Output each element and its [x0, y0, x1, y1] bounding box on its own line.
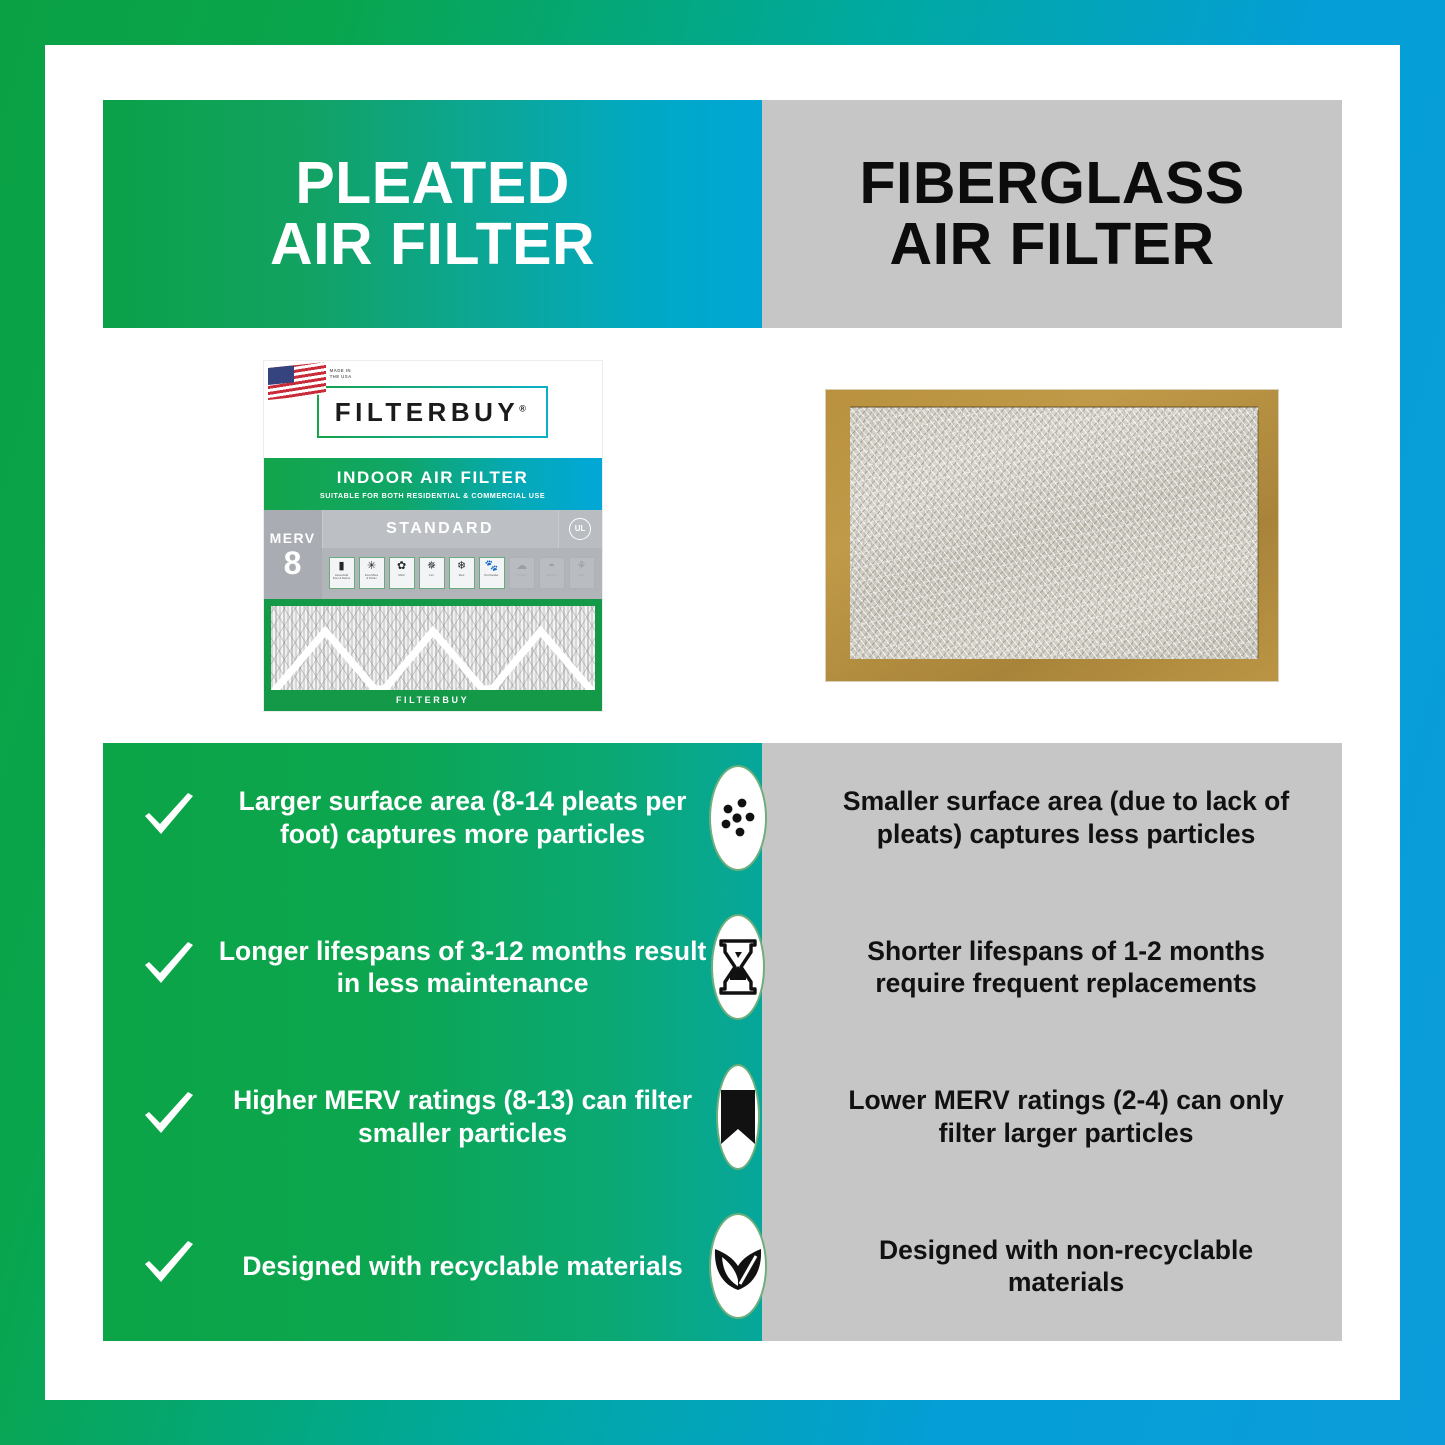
checkmark-icon	[141, 790, 197, 846]
pleated-benefit-text: Longer lifespans of 3-12 months result i…	[215, 935, 710, 1000]
filter-grade-label: STANDARD	[322, 510, 558, 548]
capability-glyph-icon: ◓	[548, 561, 555, 572]
infographic-page: PLEATED AIR FILTER FIBERGLASS AIR FILTER…	[45, 45, 1400, 1400]
header-band: PLEATED AIR FILTER FIBERGLASS AIR FILTER	[103, 100, 1342, 328]
pleated-benefit-text: Larger surface area (8-14 pleats per foo…	[215, 785, 710, 850]
pleated-benefit-cell: Higher MERV ratings (8-13) can filter sm…	[103, 1084, 762, 1149]
capability-tile-0: ▮Household Dust & Debris	[329, 557, 355, 589]
pleated-benefit-cell: Designed with recyclable materials	[103, 1238, 762, 1294]
capability-caption: Bacteria	[546, 574, 556, 577]
box-spec-strip: MERV 8 STANDARD UL ▮Household Dust & Deb…	[264, 510, 602, 599]
capability-tile-1: ✳Dust Mites & Pollen	[359, 557, 385, 589]
capability-tile-3: ✵Lint	[419, 557, 445, 589]
header-fiberglass-panel: FIBERGLASS AIR FILTER	[762, 100, 1342, 328]
frame-seam-right	[1257, 410, 1259, 659]
merv-block: MERV 8	[264, 510, 322, 599]
capability-caption: Dust	[459, 574, 465, 577]
capability-glyph-icon: ✳	[367, 561, 376, 572]
capability-glyph-icon: ⚘	[577, 561, 587, 572]
capability-glyph-icon: 🐾	[485, 561, 499, 572]
capability-tile-5: 🐾Pet Dander	[479, 557, 505, 589]
checkmark-icon	[141, 939, 197, 995]
fiberglass-drawback-text: Designed with non-recyclable materials	[820, 1234, 1312, 1299]
capability-glyph-icon: ❄	[457, 561, 466, 572]
capability-tile-4: ❄Dust	[449, 557, 475, 589]
support-wire-icon	[271, 606, 595, 690]
box-band-subtitle: SUITABLE FOR BOTH RESIDENTIAL & COMMERCI…	[320, 491, 545, 500]
gradient-border-frame: PLEATED AIR FILTER FIBERGLASS AIR FILTER…	[0, 0, 1445, 1445]
capability-glyph-icon: ✿	[397, 561, 406, 572]
capability-glyph-icon: ✵	[427, 561, 436, 572]
capability-caption: Pet Dander	[485, 574, 499, 577]
pleated-title: PLEATED AIR FILTER	[270, 153, 595, 276]
capability-tile-7: ◓Bacteria	[539, 557, 565, 589]
capability-glyph-icon: ▮	[339, 561, 345, 572]
box-band-title: INDOOR AIR FILTER	[337, 468, 529, 488]
box-product-band: INDOOR AIR FILTER SUITABLE FOR BOTH RESI…	[264, 458, 602, 510]
fiberglass-drawback-text: Smaller surface area (due to lack of ple…	[820, 785, 1312, 850]
pleated-product-cell: MADE IN THE USA FILTERBUY® INDOOR AIR FI…	[103, 328, 762, 743]
capability-tile-2: ✿Mold	[389, 557, 415, 589]
pleated-benefit-text: Designed with recyclable materials	[215, 1250, 710, 1283]
filterbuy-box-image: MADE IN THE USA FILTERBUY® INDOOR AIR FI…	[264, 361, 602, 711]
brand-plate: FILTERBUY®	[317, 386, 549, 438]
capability-caption: Dust Mites & Pollen	[365, 574, 378, 580]
fiberglass-product-cell	[762, 328, 1342, 743]
brand-trademark: ®	[519, 403, 530, 413]
pleated-benefit-cell: Longer lifespans of 3-12 months result i…	[103, 935, 762, 1000]
brand-name: FILTERBUY®	[335, 397, 531, 427]
capability-tile-6: ☁Smoke	[509, 557, 535, 589]
bookmark-icon	[716, 1064, 760, 1170]
pleated-media-artwork: FILTERBUY	[264, 599, 602, 711]
fiberglass-mesh-texture	[850, 407, 1258, 659]
fiberglass-drawback-cell: Smaller surface area (due to lack of ple…	[762, 785, 1342, 850]
frame-seam-top	[850, 406, 1258, 408]
capability-glyph-icon: ☁	[516, 561, 527, 572]
capability-caption: Household Dust & Debris	[333, 574, 350, 580]
fiberglass-drawback-text: Shorter lifespans of 1-2 months require …	[820, 935, 1312, 1000]
product-image-row: MADE IN THE USA FILTERBUY® INDOOR AIR FI…	[103, 328, 1342, 743]
merv-label: MERV	[270, 530, 316, 546]
fiberglass-drawback-text: Lower MERV ratings (2-4) can only filter…	[820, 1084, 1312, 1149]
fiberglass-drawback-cell: Lower MERV ratings (2-4) can only filter…	[762, 1084, 1342, 1149]
capability-caption: Mold	[399, 574, 405, 577]
checkmark-icon	[141, 1238, 197, 1294]
capability-caption: Virus	[578, 574, 584, 577]
capability-caption: Smoke	[517, 574, 526, 577]
pleat-texture	[271, 606, 595, 690]
made-in-usa-label: MADE IN THE USA	[330, 368, 352, 381]
spec-main: STANDARD UL ▮Household Dust & Debris✳Dus…	[322, 510, 602, 599]
fiberglass-filter-image	[826, 390, 1278, 681]
usa-flag-icon	[268, 361, 326, 399]
capability-tile-8: ⚘Virus	[569, 557, 595, 589]
ul-certification-cell: UL	[558, 510, 602, 548]
capability-caption: Lint	[429, 574, 434, 577]
fiberglass-drawback-cell: Designed with non-recyclable materials	[762, 1234, 1342, 1299]
ul-certification-icon: UL	[569, 518, 591, 540]
hourglass-icon	[711, 914, 765, 1020]
box-footer-brand: FILTERBUY	[271, 690, 595, 711]
fiberglass-drawback-cell: Shorter lifespans of 1-2 months require …	[762, 935, 1342, 1000]
checkmark-icon	[141, 1089, 197, 1145]
particles-icon	[709, 765, 767, 871]
box-brand-header: MADE IN THE USA FILTERBUY®	[264, 361, 602, 458]
capability-tile-row: ▮Household Dust & Debris✳Dust Mites & Po…	[322, 548, 602, 599]
merv-value: 8	[284, 547, 302, 579]
pleated-benefit-text: Higher MERV ratings (8-13) can filter sm…	[215, 1084, 710, 1149]
pleated-benefit-cell: Larger surface area (8-14 pleats per foo…	[103, 785, 762, 850]
leaf-icon	[709, 1213, 767, 1319]
fiberglass-title: FIBERGLASS AIR FILTER	[859, 153, 1244, 276]
comparison-panel: Larger surface area (8-14 pleats per foo…	[103, 743, 1342, 1341]
header-pleated-panel: PLEATED AIR FILTER	[103, 100, 762, 328]
spec-top-row: STANDARD UL	[322, 510, 602, 548]
